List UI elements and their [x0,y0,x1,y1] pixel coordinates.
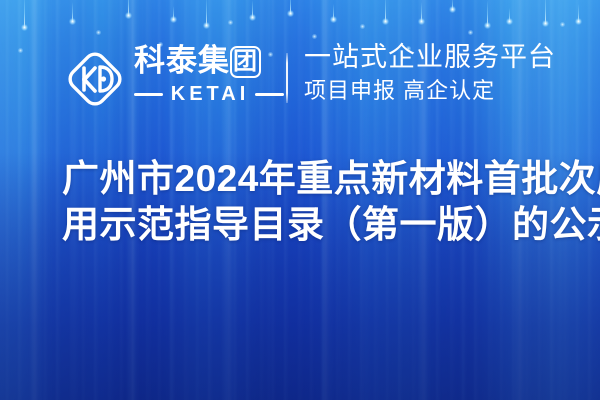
logo-en-row: KETAI [134,83,284,106]
logo-company-name-cn-text: 科泰集 [134,43,230,78]
light-spark [360,24,365,29]
light-streak [24,0,25,28]
light-streak [290,0,291,14]
ketai-logo[interactable]: 科泰集团 KETAI [62,40,278,120]
banner-header: 科泰集团 KETAI 一站式企业服务平台 项目申报 高企认定 [0,40,600,122]
light-streak [128,0,129,16]
logo-company-name-cn: 科泰集团 [134,42,284,80]
logo-dash-right [255,93,284,96]
light-spark [560,22,565,27]
logo-company-name-en: KETAI [169,83,250,106]
light-streak [421,2,422,22]
logo-company-name-cn-boxed-char: 团 [230,46,261,78]
light-streak [252,0,253,18]
tagline-block: 一站式企业服务平台 项目申报 高企认定 [304,40,584,106]
light-streak [545,0,546,24]
logo-wordmark: 科泰集团 KETAI [134,42,284,106]
light-streak [385,0,386,22]
logo-dash-left [134,93,163,96]
tagline-secondary: 项目申报 高企认定 [304,76,584,106]
light-streak [452,0,453,10]
light-streak [578,4,579,22]
light-streak [206,0,207,26]
light-streak [72,2,73,22]
light-spark [312,34,317,39]
promo-banner: 科泰集团 KETAI 一站式企业服务平台 项目申报 高企认定 广州市2024年重… [0,0,600,400]
page-title: 广州市2024年重点新材料首批次应 用示范指导目录（第一版）的公示 [62,156,548,248]
page-title-line-2: 用示范指导目录（第一版）的公示 [62,202,548,248]
light-spark [96,30,101,35]
light-spark [228,20,233,25]
light-streak [333,4,334,20]
tagline-primary: 一站式企业服务平台 [304,40,584,74]
light-streak [173,6,174,20]
light-streak [487,0,488,26]
header-divider [286,53,288,103]
page-title-line-1: 广州市2024年重点新材料首批次应 [62,156,548,202]
light-streak [509,8,510,22]
light-spark [468,30,473,35]
ketai-diamond-kt-monogram-icon [62,46,128,112]
